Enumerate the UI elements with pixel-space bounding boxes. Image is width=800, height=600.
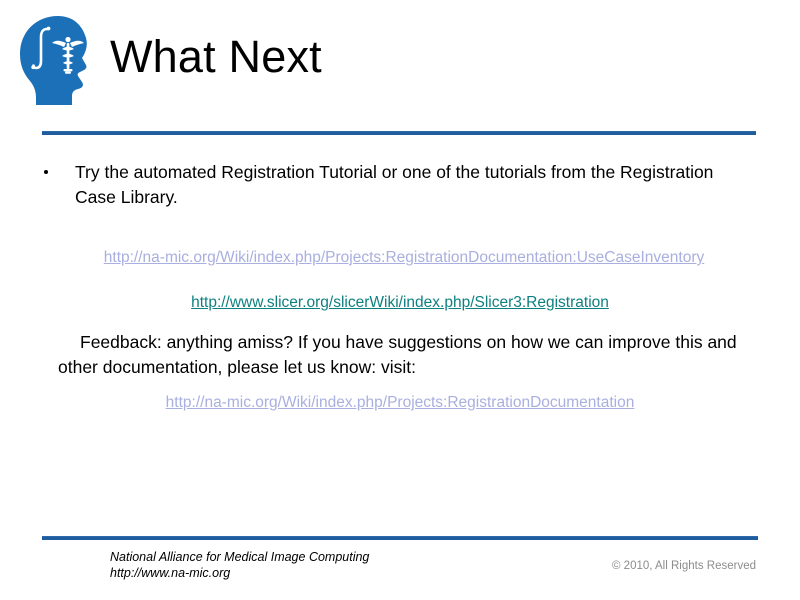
- footer-copyright: © 2010, All Rights Reserved: [612, 559, 756, 574]
- registration-documentation-link[interactable]: http://na-mic.org/Wiki/index.php/Project…: [0, 393, 800, 413]
- use-case-inventory-link[interactable]: http://na-mic.org/Wiki/index.php/Project…: [0, 248, 800, 268]
- footer-attribution: National Alliance for Medical Image Comp…: [110, 549, 369, 581]
- presentation-slide: What Next Try the automated Registration…: [0, 0, 800, 600]
- page-title: What Next: [110, 28, 322, 86]
- slide-body: Try the automated Registration Tutorial …: [0, 160, 800, 210]
- slicer3-registration-link[interactable]: http://www.slicer.org/slicerWiki/index.p…: [0, 293, 800, 313]
- feedback-line-1: Feedback: anything amiss? If you have su…: [58, 332, 603, 352]
- footer-divider: [42, 536, 758, 540]
- feedback-paragraph: Feedback: anything amiss? If you have su…: [58, 330, 758, 380]
- footer-organization: National Alliance for Medical Image Comp…: [110, 549, 369, 565]
- bullet-marker-icon: [44, 170, 48, 174]
- na-mic-logo-icon: [14, 12, 106, 108]
- bullet-item-text: Try the automated Registration Tutorial …: [75, 160, 740, 210]
- footer-website[interactable]: http://www.na-mic.org: [110, 565, 369, 581]
- bullet-list-item: Try the automated Registration Tutorial …: [0, 160, 800, 210]
- title-divider: [42, 131, 756, 135]
